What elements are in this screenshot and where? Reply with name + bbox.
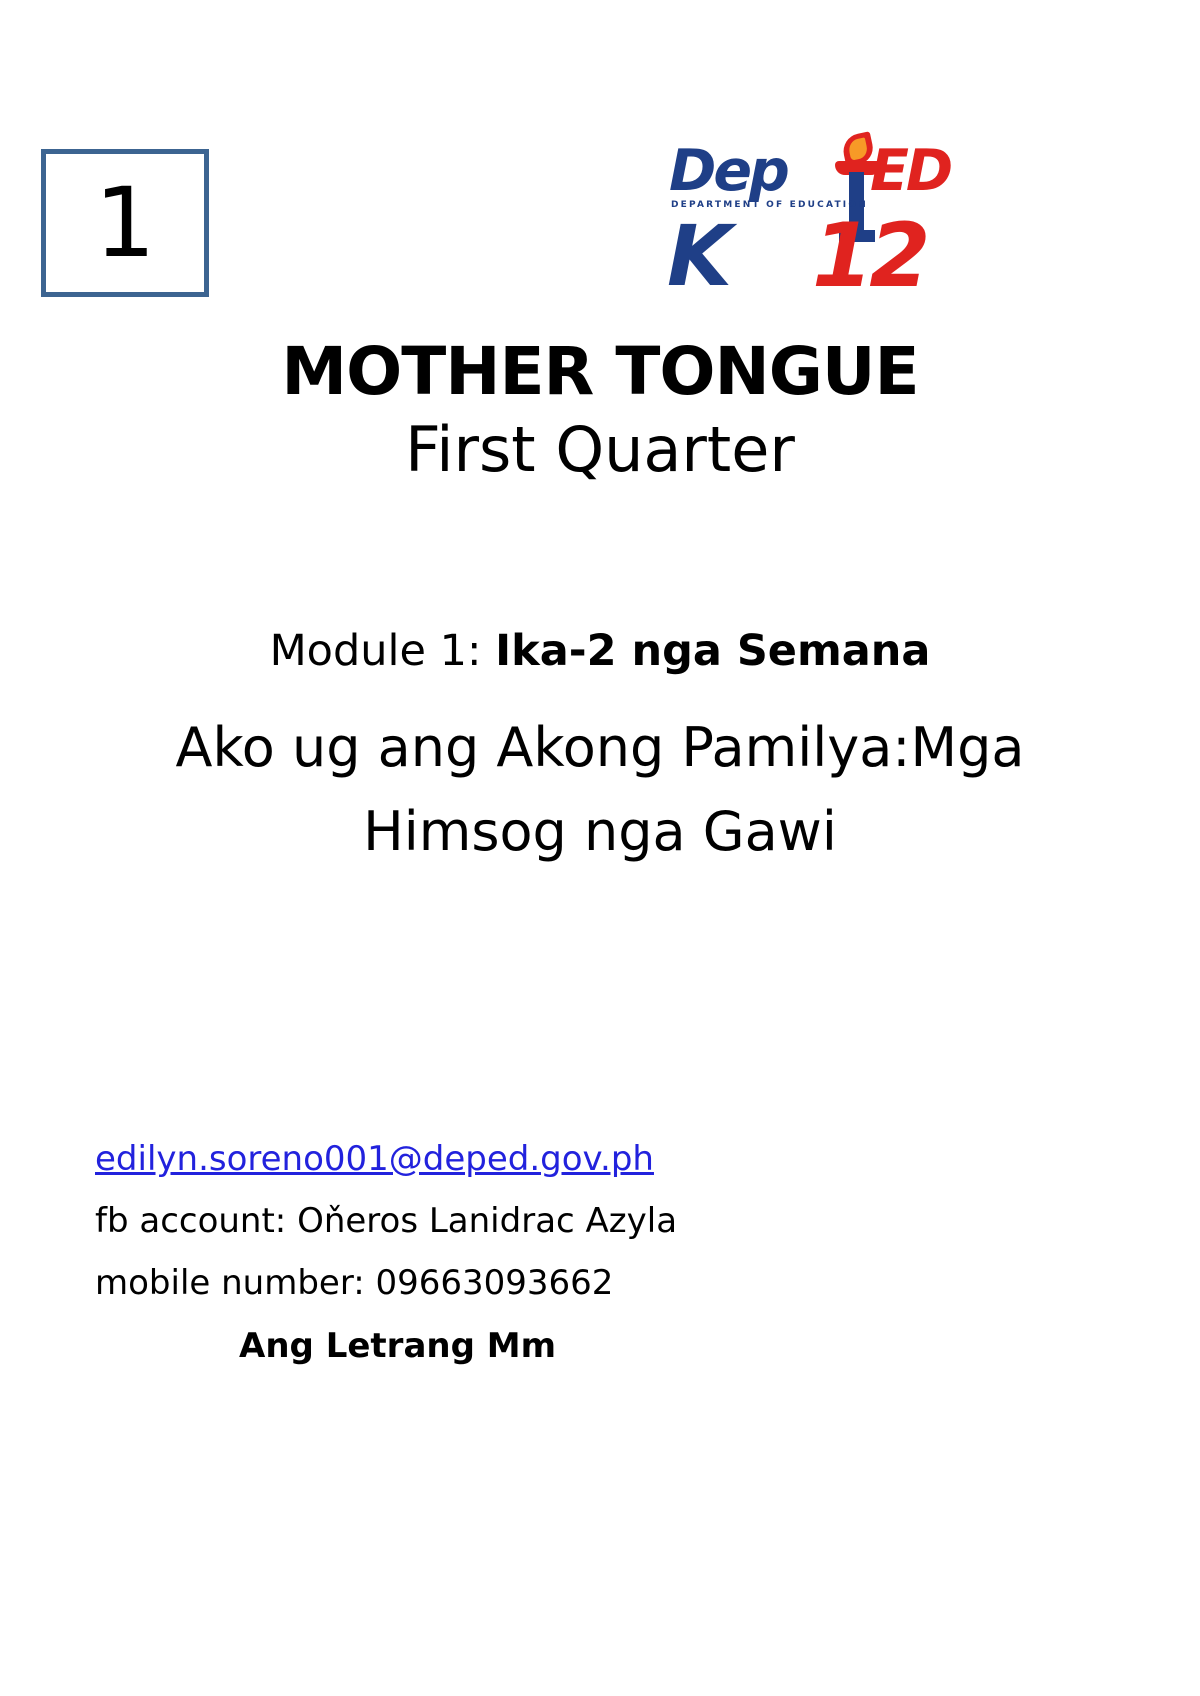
contact-block: edilyn.soreno001@deped.gov.ph fb account…	[95, 1128, 1105, 1374]
logo-k-text: K	[667, 210, 726, 302]
email-line: edilyn.soreno001@deped.gov.ph	[95, 1128, 1105, 1190]
deped-k12-logo: Dep ED DEPARTMENT OF EDUCATION K 12	[662, 138, 1002, 306]
logo-twelve-text: 12	[812, 210, 926, 302]
page-number: 1	[94, 175, 155, 271]
module-week: Ika-2 nga Semana	[495, 626, 930, 676]
lesson-title: Ako ug ang Akong Pamilya:Mga Himsog nga …	[140, 706, 1060, 874]
document-page: 1 Dep ED DEPARTMENT OF EDUCATION K 12 MO…	[0, 0, 1200, 1696]
mobile-number-line: mobile number: 09663093662	[95, 1252, 1105, 1314]
module-line: Module 1: Ika-2 nga Semana	[0, 620, 1200, 682]
page-number-box: 1	[41, 149, 209, 297]
module-prefix: Module 1:	[270, 626, 496, 676]
closing-heading: Ang Letrang Mm	[95, 1318, 1105, 1374]
logo-dep-text: Dep	[669, 140, 787, 202]
page-header: 1 Dep ED DEPARTMENT OF EDUCATION K 12	[0, 0, 1200, 320]
subject-title: MOTHER TONGUE	[0, 332, 1200, 412]
fb-account-line: fb account: Oňeros Lanidrac Azyla	[95, 1190, 1105, 1252]
title-block: MOTHER TONGUE First Quarter	[0, 332, 1200, 488]
quarter-title: First Quarter	[0, 412, 1200, 488]
email-link[interactable]: edilyn.soreno001@deped.gov.ph	[95, 1128, 654, 1190]
